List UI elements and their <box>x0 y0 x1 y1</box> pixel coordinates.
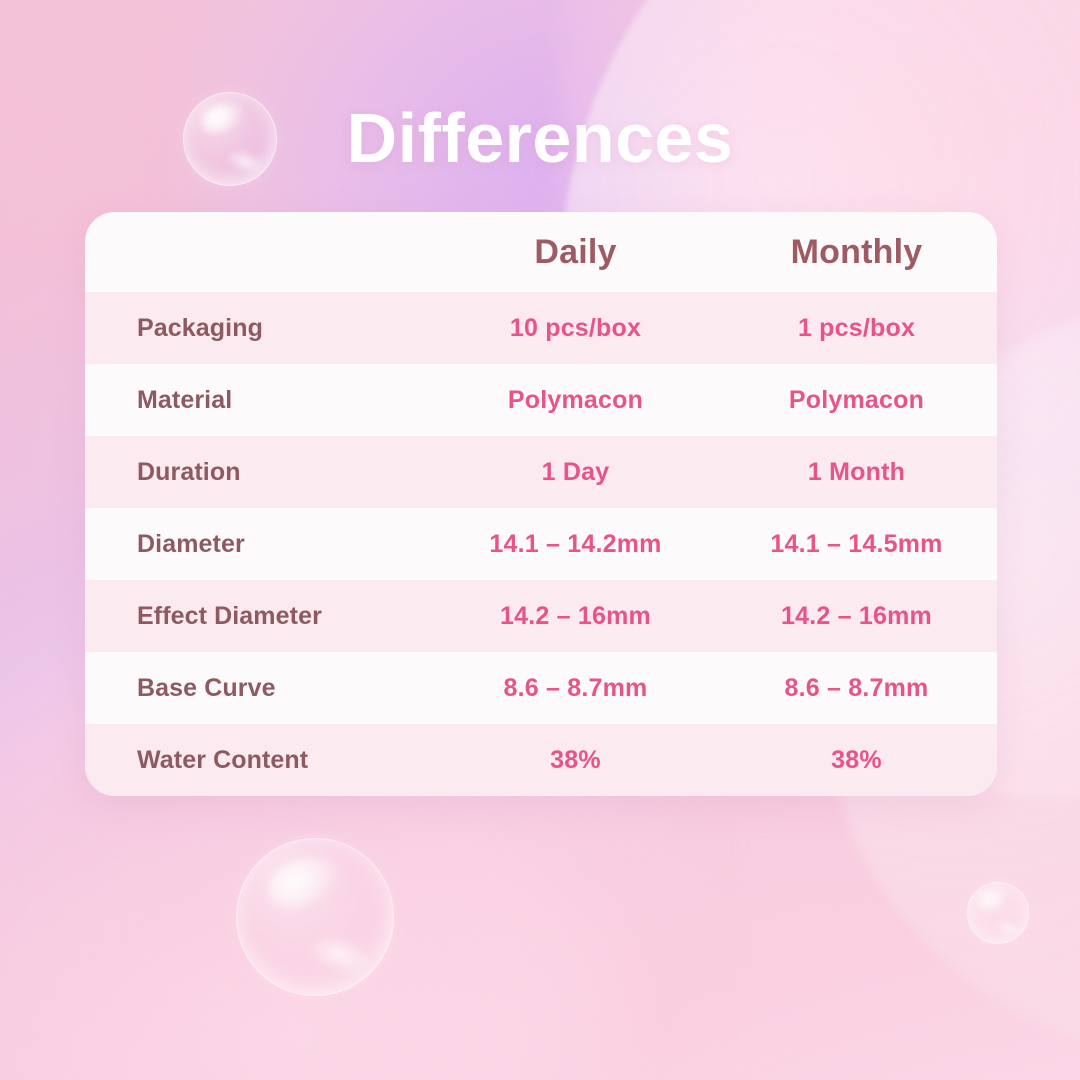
table-row: Duration1 Day1 Month <box>85 436 997 508</box>
row-label: Diameter <box>85 530 435 559</box>
cell-monthly: 1 Month <box>716 458 997 487</box>
cell-daily: 1 Day <box>435 458 716 487</box>
cell-daily: 14.2 – 16mm <box>435 602 716 631</box>
cell-monthly: 14.2 – 16mm <box>716 602 997 631</box>
table-row: Effect Diameter14.2 – 16mm14.2 – 16mm <box>85 580 997 652</box>
cell-daily: 14.1 – 14.2mm <box>435 530 716 559</box>
cell-monthly: 1 pcs/box <box>716 314 997 343</box>
column-header-daily: Daily <box>435 233 716 272</box>
row-label: Material <box>85 386 435 415</box>
table-row: Water Content38%38% <box>85 724 997 796</box>
row-label: Base Curve <box>85 674 435 703</box>
row-label: Duration <box>85 458 435 487</box>
cell-daily: 8.6 – 8.7mm <box>435 674 716 703</box>
cell-daily: Polymacon <box>435 386 716 415</box>
comparison-table-card: Daily Monthly Packaging10 pcs/box1 pcs/b… <box>85 212 997 796</box>
table-row: MaterialPolymaconPolymacon <box>85 364 997 436</box>
table-row: Diameter14.1 – 14.2mm14.1 – 14.5mm <box>85 508 997 580</box>
table-header-row: Daily Monthly <box>85 212 997 292</box>
cell-monthly: 14.1 – 14.5mm <box>716 530 997 559</box>
bubble-rim <box>236 838 394 996</box>
row-label: Packaging <box>85 314 435 343</box>
table-body: Packaging10 pcs/box1 pcs/boxMaterialPoly… <box>85 292 997 796</box>
cell-daily: 10 pcs/box <box>435 314 716 343</box>
poster-canvas: Differences Daily Monthly Packaging10 pc… <box>0 0 1080 1080</box>
row-label: Effect Diameter <box>85 602 435 631</box>
bubble-icon <box>967 882 1029 944</box>
cell-monthly: 8.6 – 8.7mm <box>716 674 997 703</box>
table-row: Packaging10 pcs/box1 pcs/box <box>85 292 997 364</box>
row-label: Water Content <box>85 746 435 775</box>
cell-daily: 38% <box>435 746 716 775</box>
bubble-icon <box>236 838 394 996</box>
cell-monthly: 38% <box>716 746 997 775</box>
page-title: Differences <box>0 100 1080 177</box>
bubble-rim <box>967 882 1029 944</box>
column-header-monthly: Monthly <box>716 233 997 272</box>
table-row: Base Curve8.6 – 8.7mm8.6 – 8.7mm <box>85 652 997 724</box>
cell-monthly: Polymacon <box>716 386 997 415</box>
